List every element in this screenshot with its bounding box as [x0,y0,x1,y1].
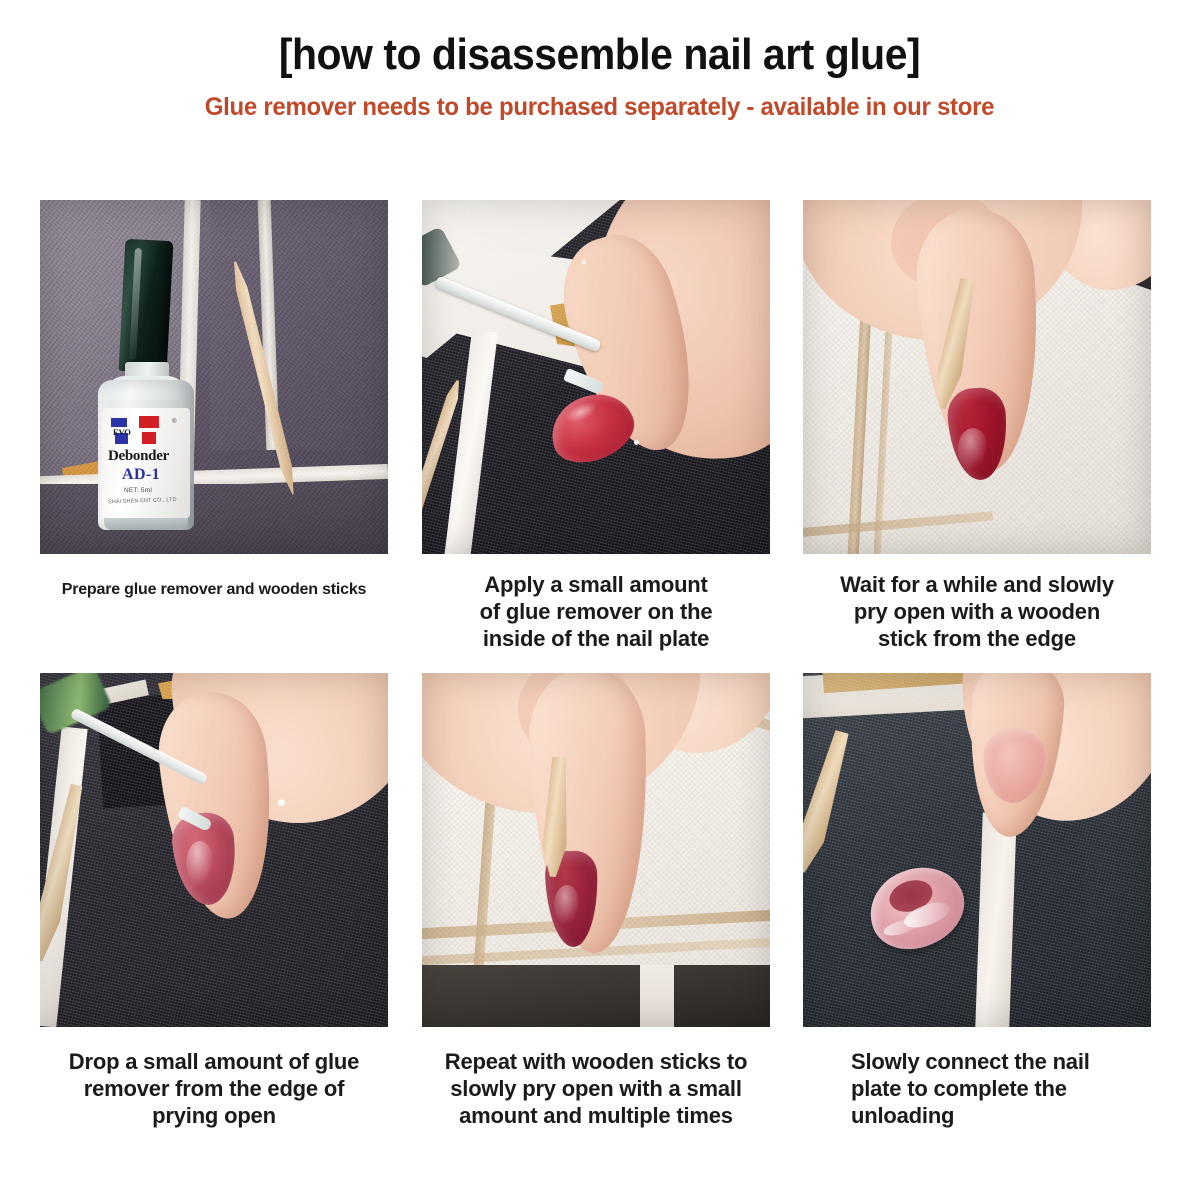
brand-text: EVO [113,427,181,437]
brand-logo-icon: EVO ® [111,416,181,446]
product-model-text: AD-1 [122,466,160,484]
steps-row-bottom: Drop a small amount of glue remover from… [0,673,1199,1147]
step-caption-6: Slowly connect the nail plate to complet… [803,1049,1151,1129]
step-caption-1: Prepare glue remover and wooden sticks [40,580,388,600]
steps-grid: EVO ® Debonder AD-1 NET: 5ml SHAI SHEN E… [0,200,1199,1147]
manufacturer-text: SHAI SHEN ENT CO., LTD [108,497,188,506]
step-card-2: Apply a small amount of glue remover on … [422,200,770,652]
registered-mark-icon: ® [172,419,176,425]
step-card-3: Wait for a while and slowly pry open wit… [803,200,1151,652]
step-caption-5: Repeat with wooden sticks to slowly pry … [422,1049,770,1129]
instruction-page: [how to disassemble nail art glue] Glue … [0,0,1199,1200]
step-caption-3: Wait for a while and slowly pry open wit… [803,572,1151,652]
net-volume-text: NET: 5ml [124,487,152,494]
page-subtitle: Glue remover needs to be purchased separ… [24,94,1175,122]
bottle-cap [119,239,174,373]
step-photo-3 [803,200,1151,554]
step-card-4: Drop a small amount of glue remover from… [40,673,388,1129]
page-header: [how to disassemble nail art glue] Glue … [0,0,1199,122]
step-card-6: Slowly connect the nail plate to complet… [803,673,1151,1129]
page-title: [how to disassemble nail art glue] [42,32,1157,78]
step-card-1: EVO ® Debonder AD-1 NET: 5ml SHAI SHEN E… [40,200,388,600]
step-photo-4 [40,673,388,1027]
step-card-5: Repeat with wooden sticks to slowly pry … [422,673,770,1129]
glue-remover-bottle: EVO ® Debonder AD-1 NET: 5ml SHAI SHEN E… [92,240,196,530]
step-caption-2: Apply a small amount of glue remover on … [422,572,770,652]
step-photo-2 [422,200,770,554]
step-photo-5 [422,673,770,1027]
step-caption-4: Drop a small amount of glue remover from… [40,1049,388,1129]
product-name-text: Debonder [108,448,188,465]
steps-row-top: EVO ® Debonder AD-1 NET: 5ml SHAI SHEN E… [0,200,1199,673]
step-photo-1: EVO ® Debonder AD-1 NET: 5ml SHAI SHEN E… [40,200,388,554]
step-photo-6 [803,673,1151,1027]
bottle-label: EVO ® Debonder AD-1 NET: 5ml SHAI SHEN E… [102,408,190,518]
